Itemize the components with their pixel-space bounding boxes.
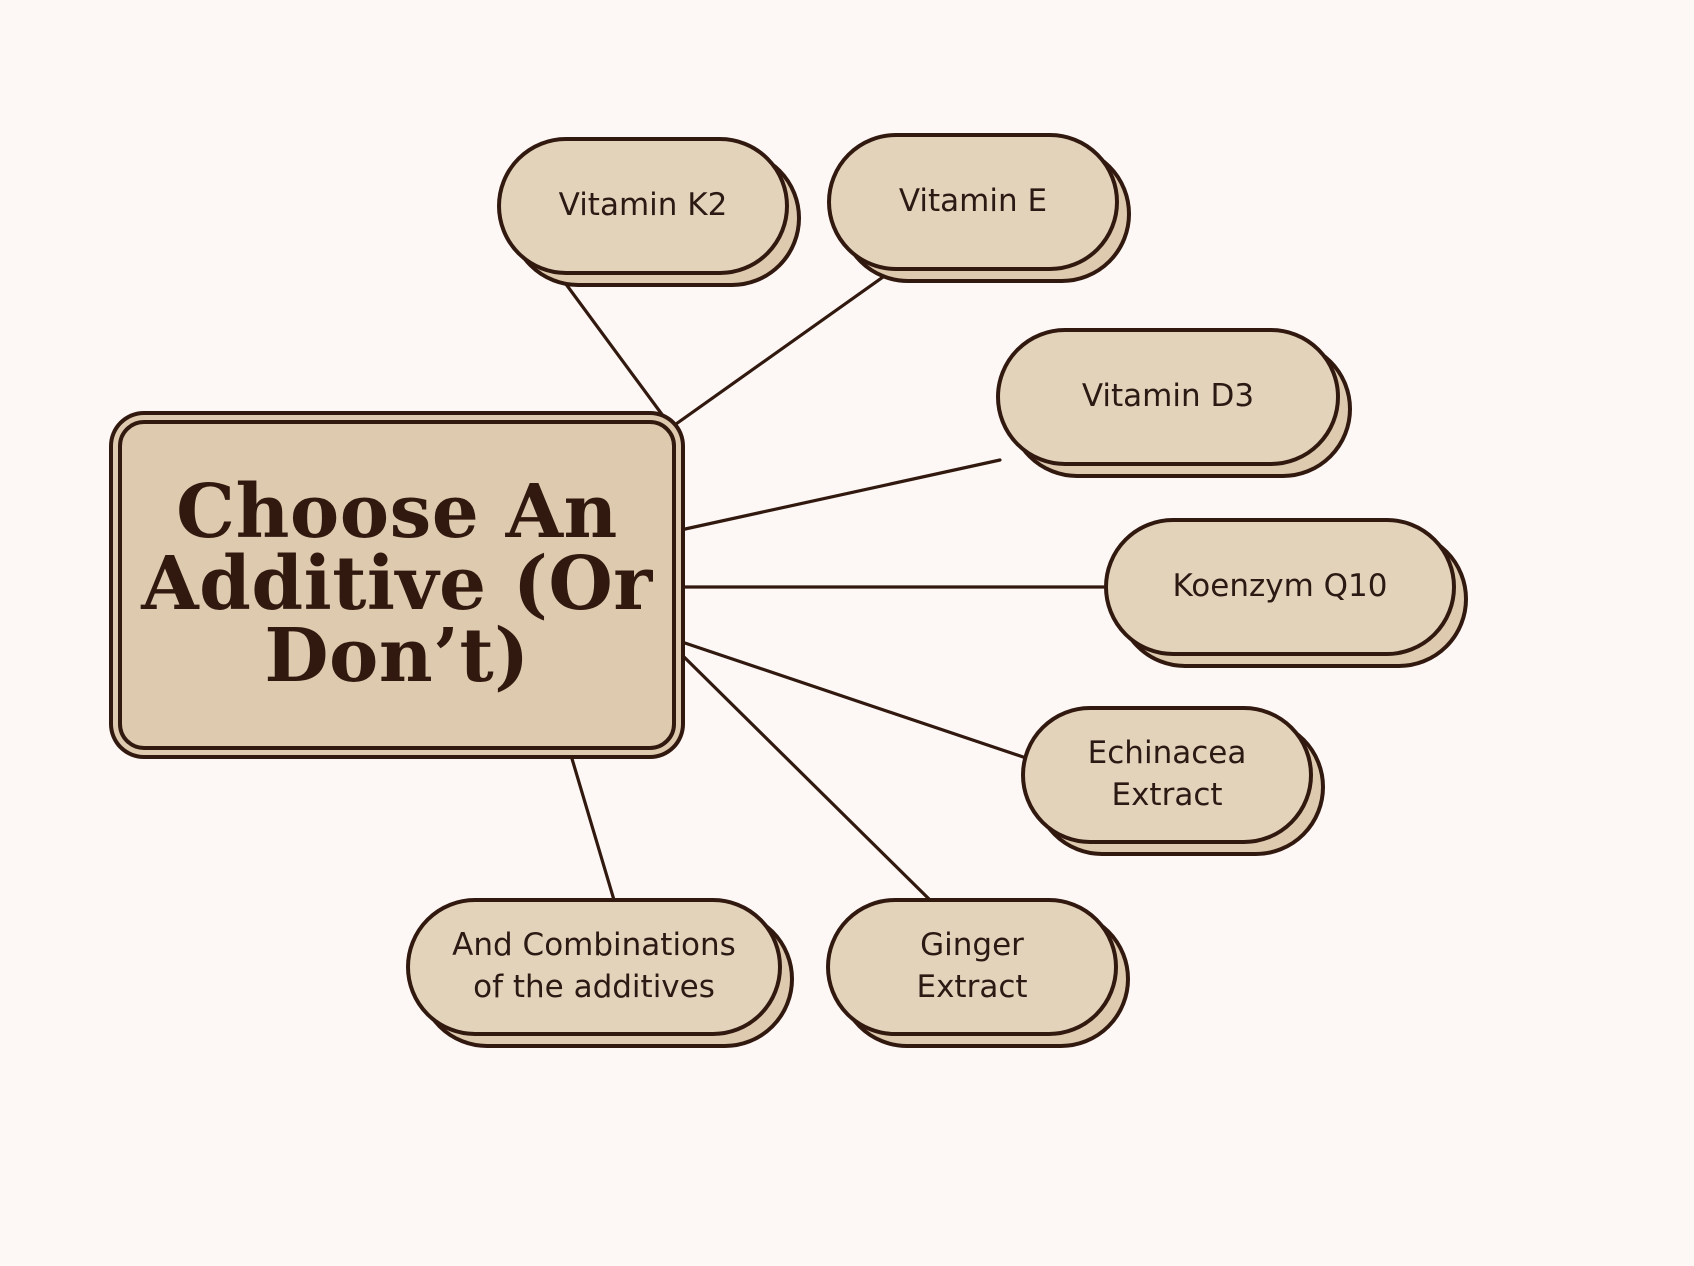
node-vitamin-k2[interactable]: Vitamin K2 [497, 137, 789, 275]
node-face: Vitamin D3 [996, 328, 1340, 466]
edge-vitamin-k2 [560, 276, 672, 428]
node-label-and-combinations: And Combinations of the additives [438, 925, 750, 1009]
node-label-vitamin-e: Vitamin E [885, 181, 1061, 223]
node-ginger-extract[interactable]: Ginger Extract [826, 898, 1118, 1036]
node-vitamin-d3[interactable]: Vitamin D3 [996, 328, 1340, 466]
mindmap-canvas: Choose An Additive (Or Don’t) Vitamin K2… [0, 0, 1694, 1266]
node-face: Vitamin E [827, 133, 1119, 271]
node-label-koenzym-q10: Koenzym Q10 [1159, 566, 1402, 608]
node-face: Koenzym Q10 [1104, 518, 1456, 656]
node-koenzym-q10[interactable]: Koenzym Q10 [1104, 518, 1456, 656]
node-face: And Combinations of the additives [406, 898, 782, 1036]
node-face: Ginger Extract [826, 898, 1118, 1036]
central-node-label: Choose An Additive (Or Don’t) [122, 477, 672, 692]
node-label-echinacea-extract: Echinacea Extract [1074, 733, 1261, 817]
edge-vitamin-d3 [676, 460, 1000, 531]
node-and-combinations[interactable]: And Combinations of the additives [406, 898, 782, 1036]
node-label-vitamin-d3: Vitamin D3 [1068, 376, 1268, 418]
central-node[interactable]: Choose An Additive (Or Don’t) [118, 420, 676, 750]
node-face: Vitamin K2 [497, 137, 789, 275]
edge-and-combinations [570, 752, 614, 900]
edge-vitamin-e [676, 272, 890, 424]
node-face: Echinacea Extract [1021, 706, 1313, 844]
node-label-vitamin-k2: Vitamin K2 [545, 185, 742, 227]
node-echinacea-extract[interactable]: Echinacea Extract [1021, 706, 1313, 844]
node-vitamin-e[interactable]: Vitamin E [827, 133, 1119, 271]
edge-ginger-extract [678, 651, 930, 900]
node-label-ginger-extract: Ginger Extract [902, 925, 1041, 1009]
